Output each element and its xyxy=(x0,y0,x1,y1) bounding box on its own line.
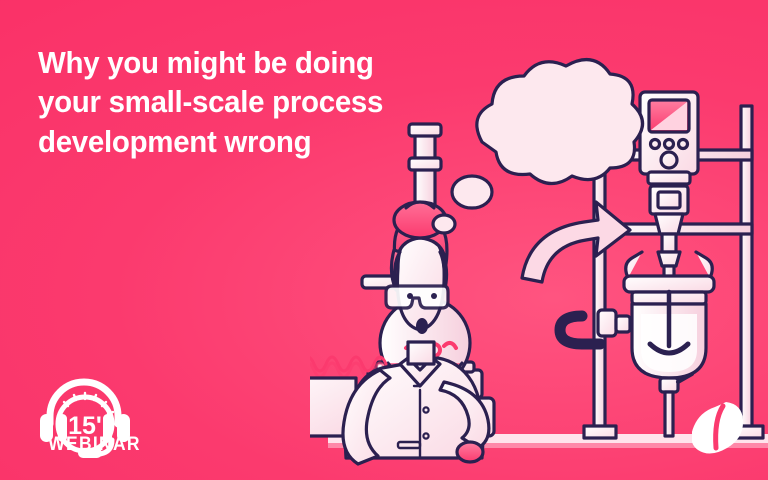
curved-right-arrow xyxy=(522,202,630,282)
jacketed-reactor xyxy=(560,252,714,436)
overhead-stirrer xyxy=(640,92,698,292)
webinar-banner: Why you might be doing your small-scale … xyxy=(0,0,768,480)
webinar-badge: 15' WEBINAR xyxy=(28,368,178,460)
badge-type-label: WEBINAR xyxy=(28,434,166,456)
company-logo[interactable] xyxy=(692,398,746,456)
thought-bubble xyxy=(433,60,643,233)
